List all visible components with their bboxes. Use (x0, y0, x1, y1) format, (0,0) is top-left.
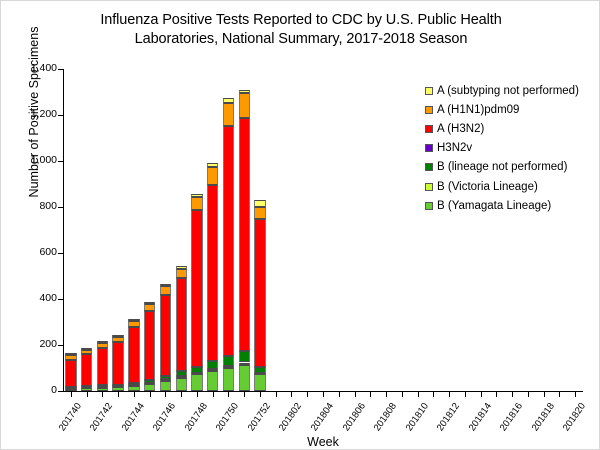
x-axis-tick-label: 201750 (211, 401, 242, 438)
bar-segment (239, 363, 250, 366)
x-axis-tick (260, 392, 261, 397)
bar-segment (144, 311, 155, 380)
bar-segment (239, 93, 250, 117)
x-axis-tick (307, 392, 308, 397)
legend-item[interactable]: B (lineage not performed) (425, 158, 597, 177)
x-axis-tick (197, 392, 198, 397)
y-axis-tick (58, 161, 63, 162)
legend-item[interactable]: B (Victoria Lineage) (425, 177, 597, 196)
x-axis-tick (402, 392, 403, 397)
x-axis-tick (118, 392, 119, 397)
bar-segment (160, 284, 171, 286)
chart-title-line-1: Influenza Positive Tests Reported to CDC… (21, 11, 581, 30)
x-axis-tick (386, 392, 387, 397)
bar-segment (191, 367, 202, 373)
x-axis-title: Week (63, 435, 583, 449)
x-axis-tick (465, 392, 466, 397)
bar-segment (223, 356, 234, 366)
bar-column (144, 302, 155, 391)
bar-segment (112, 342, 123, 385)
bar-column (65, 354, 76, 391)
bar-segment (81, 348, 92, 350)
bar-column (112, 336, 123, 391)
bar-segment (65, 355, 76, 359)
bar-column (176, 266, 187, 391)
bar-segment (254, 367, 265, 373)
chart-title: Influenza Positive Tests Reported to CDC… (21, 11, 581, 49)
x-axis-tick (276, 392, 277, 397)
legend-swatch-icon (425, 202, 433, 210)
bar-segment (112, 385, 123, 387)
chart-legend: A (subtyping not performed)A (H1N1)pdm09… (425, 81, 597, 215)
bar-segment (207, 371, 218, 391)
bar-segment (191, 197, 202, 210)
x-axis-tick-label: 201802 (274, 401, 305, 438)
x-axis-tick (528, 392, 529, 397)
x-axis-tick-label: 201812 (431, 401, 462, 438)
bar-segment (81, 388, 92, 391)
y-axis-line (63, 69, 64, 391)
x-axis-tick (575, 392, 576, 397)
chart-title-line-2: Laboratories, National Summary, 2017-201… (21, 30, 581, 49)
bar-segment (176, 278, 187, 371)
bar-segment (65, 353, 76, 355)
x-axis-tick (181, 392, 182, 397)
x-axis-tick-label: 201746 (148, 401, 179, 438)
bar-column (191, 194, 202, 391)
x-axis-tick-label: 201748 (179, 401, 210, 438)
bar-column (128, 319, 139, 391)
y-axis-tick (58, 345, 63, 346)
bar-segment (239, 118, 250, 351)
bar-segment (176, 378, 187, 391)
legend-item[interactable]: A (H3N2) (425, 119, 597, 138)
x-axis-tick-label: 201810 (400, 401, 431, 438)
bar-segment (207, 167, 218, 185)
legend-item-label: A (H3N2) (437, 123, 484, 135)
bar-segment (207, 185, 218, 361)
bar-segment (254, 207, 265, 220)
x-axis-tick-label: 201814 (463, 401, 494, 438)
bar-segment (81, 350, 92, 354)
x-axis-tick (481, 392, 482, 397)
x-axis-tick (228, 392, 229, 397)
legend-item-label: H3N2v (437, 142, 472, 154)
bar-segment (176, 371, 187, 376)
x-axis-tick (291, 392, 292, 397)
bar-segment (191, 194, 202, 197)
bar-segment (223, 126, 234, 356)
bar-segment (128, 319, 139, 321)
bar-segment (81, 354, 92, 387)
bar-segment (191, 374, 202, 391)
x-axis-tick-label: 201744 (116, 401, 147, 438)
x-axis-tick-label: 201818 (526, 401, 557, 438)
bar-segment (207, 369, 218, 371)
bar-segment (160, 295, 171, 376)
bar-segment (112, 387, 123, 391)
x-axis-tick (323, 392, 324, 397)
legend-item[interactable]: H3N2v (425, 139, 597, 158)
y-axis-tick (58, 69, 63, 70)
x-axis-tick (370, 392, 371, 397)
legend-item-label: B (Victoria Lineage) (437, 181, 538, 193)
x-axis-tick (433, 392, 434, 397)
legend-swatch-icon (425, 87, 433, 95)
y-axis-tick (58, 391, 63, 392)
x-axis-tick-label: 201808 (368, 401, 399, 438)
bar-column (81, 348, 92, 391)
bar-segment (207, 361, 218, 368)
y-axis-tick-label: 200 (9, 338, 57, 350)
x-axis-tick (559, 392, 560, 397)
bar-segment (223, 366, 234, 368)
bar-segment (97, 341, 108, 343)
x-axis-tick (213, 392, 214, 397)
x-axis-tick (150, 392, 151, 397)
bar-segment (239, 351, 250, 363)
bar-segment (128, 327, 139, 383)
x-axis-tick (102, 392, 103, 397)
bar-segment (128, 383, 139, 385)
legend-item[interactable]: A (H1N1)pdm09 (425, 100, 597, 119)
y-axis-tick (58, 207, 63, 208)
bar-column (207, 163, 218, 391)
bar-segment (144, 380, 155, 383)
bar-segment (239, 90, 250, 94)
x-axis-tick (165, 392, 166, 397)
bar-column (239, 90, 250, 391)
bar-column (223, 98, 234, 391)
x-axis-tick (418, 392, 419, 397)
bar-segment (223, 368, 234, 391)
bar-segment (144, 304, 155, 311)
y-axis-tick (58, 299, 63, 300)
x-axis-tick-label: 201806 (337, 401, 368, 438)
y-axis-tick (58, 253, 63, 254)
bar-segment (207, 163, 218, 167)
bar-segment (160, 286, 171, 295)
bar-segment (239, 365, 250, 391)
legend-item-label: B (lineage not performed) (437, 161, 567, 173)
bar-segment (223, 103, 234, 126)
bar-segment (160, 381, 171, 391)
legend-item[interactable]: A (subtyping not performed) (425, 81, 597, 100)
x-axis-tick (355, 392, 356, 397)
y-axis-tick-label: 400 (9, 292, 57, 304)
x-axis-tick (544, 392, 545, 397)
bar-segment (112, 335, 123, 337)
bar-segment (128, 321, 139, 327)
y-axis-tick-label: 1,200 (9, 108, 57, 120)
bar-segment (65, 389, 76, 391)
bar-segment (176, 269, 187, 279)
bar-segment (144, 302, 155, 304)
y-axis-tick-label: 600 (9, 246, 57, 258)
x-axis-tick (496, 392, 497, 397)
x-axis-tick (71, 392, 72, 397)
bar-segment (254, 200, 265, 206)
bar-segment (65, 360, 76, 388)
legend-swatch-icon (425, 106, 433, 114)
y-axis-tick-label: 800 (9, 200, 57, 212)
bar-segment (254, 219, 265, 366)
legend-item[interactable]: B (Yamagata Lineage) (425, 196, 597, 215)
x-axis-tick (244, 392, 245, 397)
legend-item-label: A (subtyping not performed) (437, 85, 579, 97)
legend-swatch-icon (425, 125, 433, 133)
bar-segment (144, 384, 155, 391)
y-axis-tick (58, 115, 63, 116)
x-axis-tick-label: 201740 (53, 401, 84, 438)
y-axis-tick-label: 0 (9, 384, 57, 396)
bar-segment (128, 386, 139, 391)
influenza-chart: Influenza Positive Tests Reported to CDC… (0, 0, 600, 450)
y-axis-tick-label: 1,000 (9, 154, 57, 166)
bar-segment (97, 343, 108, 348)
bar-column (160, 284, 171, 391)
x-axis-tick (512, 392, 513, 397)
bar-column (97, 342, 108, 391)
x-axis-tick (339, 392, 340, 397)
x-axis-tick (449, 392, 450, 397)
x-axis-tick-label: 201804 (305, 401, 336, 438)
bar-segment (97, 388, 108, 391)
y-axis-tick-label: 1,400 (9, 62, 57, 74)
x-axis-tick (134, 392, 135, 397)
bar-column (254, 200, 265, 391)
legend-swatch-icon (425, 144, 433, 152)
bar-segment (160, 376, 171, 380)
legend-swatch-icon (425, 183, 433, 191)
x-axis-tick-label: 201820 (557, 401, 588, 438)
legend-swatch-icon (425, 163, 433, 171)
x-axis-tick-label: 201742 (85, 401, 116, 438)
bar-segment (191, 372, 202, 374)
bar-segment (97, 348, 108, 385)
bar-segment (191, 210, 202, 366)
x-axis-tick-label: 201752 (242, 401, 273, 438)
x-axis-tick-label: 201816 (494, 401, 525, 438)
bar-segment (176, 266, 187, 268)
legend-item-label: A (H1N1)pdm09 (437, 104, 519, 116)
bar-segment (223, 98, 234, 103)
bar-segment (254, 374, 265, 391)
x-axis-tick (87, 392, 88, 397)
bar-segment (112, 337, 123, 342)
legend-item-label: B (Yamagata Lineage) (437, 200, 551, 212)
